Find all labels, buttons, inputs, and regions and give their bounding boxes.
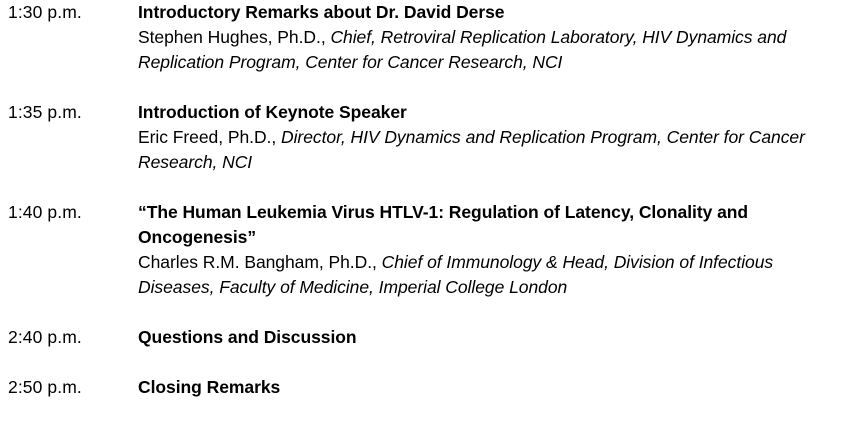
agenda-row-speaker-name: Eric Freed, Ph.D.,	[138, 127, 281, 147]
agenda-row: 2:50 p.m. Closing Remarks	[0, 375, 848, 400]
agenda-row-time: 2:40 p.m.	[8, 325, 138, 350]
agenda-row: 1:40 p.m. “The Human Leukemia Virus HTLV…	[0, 200, 848, 300]
agenda-row: 1:30 p.m. Introductory Remarks about Dr.…	[0, 0, 848, 75]
agenda-row-speaker: Stephen Hughes, Ph.D., Chief, Retroviral…	[138, 25, 845, 75]
agenda-row-body: Introductory Remarks about Dr. David Der…	[138, 0, 848, 75]
agenda-row-title: “The Human Leukemia Virus HTLV-1: Regula…	[138, 200, 845, 250]
agenda-row-time: 2:50 p.m.	[8, 375, 138, 400]
agenda-row-speaker: Charles R.M. Bangham, Ph.D., Chief of Im…	[138, 250, 845, 300]
agenda-row-title: Closing Remarks	[138, 375, 845, 400]
agenda-row: 2:40 p.m. Questions and Discussion	[0, 325, 848, 350]
agenda-schedule: 1:30 p.m. Introductory Remarks about Dr.…	[0, 0, 848, 443]
agenda-row-title: Introductory Remarks about Dr. David Der…	[138, 0, 845, 25]
agenda-row-speaker: Eric Freed, Ph.D., Director, HIV Dynamic…	[138, 125, 845, 175]
agenda-row-time: 1:30 p.m.	[8, 0, 138, 25]
agenda-row: 1:35 p.m. Introduction of Keynote Speake…	[0, 100, 848, 175]
agenda-row-speaker-name: Charles R.M. Bangham, Ph.D.,	[138, 252, 382, 272]
agenda-row-body: Closing Remarks	[138, 375, 848, 400]
agenda-row-speaker-name: Stephen Hughes, Ph.D.,	[138, 27, 330, 47]
agenda-row-title: Questions and Discussion	[138, 325, 845, 350]
agenda-row-title: Introduction of Keynote Speaker	[138, 100, 845, 125]
agenda-row-body: Introduction of Keynote Speaker Eric Fre…	[138, 100, 848, 175]
agenda-row-time: 1:40 p.m.	[8, 200, 138, 225]
agenda-row-time: 1:35 p.m.	[8, 100, 138, 125]
agenda-row-body: Questions and Discussion	[138, 325, 848, 350]
agenda-row-body: “The Human Leukemia Virus HTLV-1: Regula…	[138, 200, 848, 300]
